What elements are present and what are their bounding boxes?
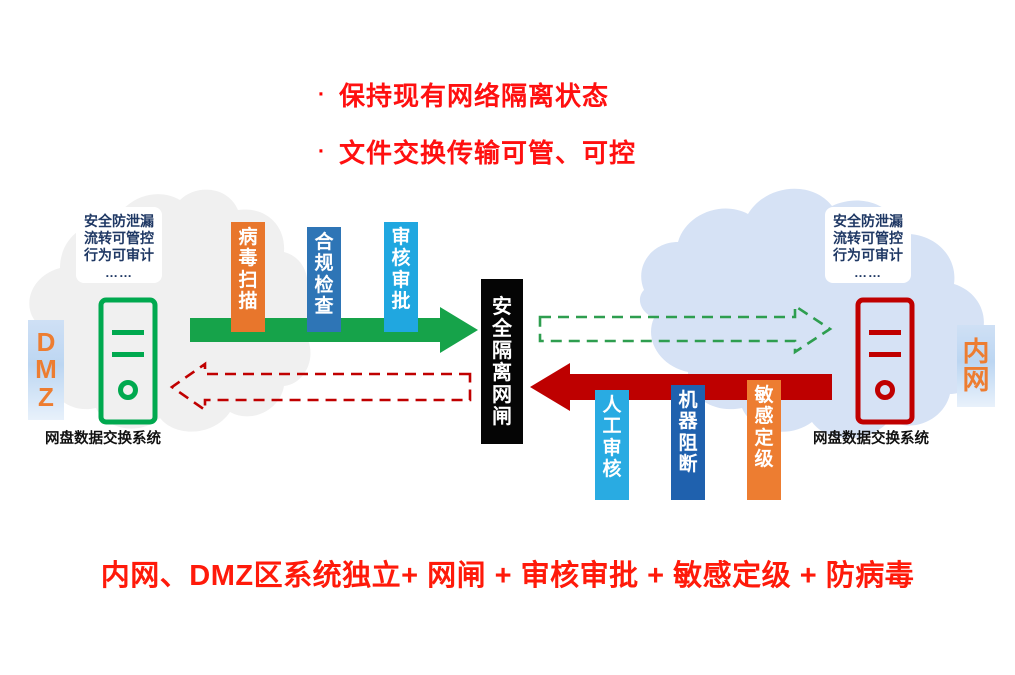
arrow-gateway-to-dmz [172, 364, 470, 410]
gateway-char: 离 [492, 362, 512, 384]
gateway-char: 隔 [492, 340, 512, 362]
process-box-machine-block[interactable]: 机 器 阻 断 [671, 385, 705, 500]
process-char: 审 [391, 270, 410, 291]
process-char: 扫 [238, 270, 257, 291]
process-char: 审 [602, 438, 621, 459]
arrow-gateway-to-intranet [540, 306, 830, 352]
security-gateway-box[interactable]: 安 全 隔 离 网 闸 [481, 279, 523, 444]
process-char: 描 [238, 291, 257, 312]
bottom-summary-text: 内网、DMZ区系统独立+ 网闸 + 审核审批 + 敏感定级 + 防病毒 [0, 552, 1015, 594]
process-char: 毒 [238, 248, 257, 269]
process-char: 规 [314, 253, 333, 274]
process-char: 合 [314, 232, 333, 253]
process-char: 断 [678, 454, 697, 475]
process-box-virus-scan[interactable]: 病 毒 扫 描 [231, 222, 265, 332]
process-char: 查 [314, 296, 333, 317]
process-box-sensitivity-grading[interactable]: 敏 感 定 级 [747, 380, 781, 500]
process-char: 人 [602, 395, 621, 416]
gateway-char: 全 [492, 318, 512, 340]
process-char: 定 [754, 428, 773, 449]
process-char: 核 [602, 459, 621, 480]
process-char: 审 [391, 227, 410, 248]
process-char: 器 [678, 411, 697, 432]
process-char: 阻 [678, 433, 697, 454]
process-box-compliance-check[interactable]: 合 规 检 查 [307, 227, 341, 332]
process-char: 感 [754, 406, 773, 427]
process-box-manual-review[interactable]: 人 工 审 核 [595, 390, 629, 500]
process-char: 机 [678, 390, 697, 411]
process-char: 敏 [754, 385, 773, 406]
process-char: 病 [238, 227, 257, 248]
diagram-canvas: · 保持现有网络隔离状态 · 文件交换传输可管、可控 D M Z 内 网 安全防… [0, 0, 1015, 675]
gateway-char: 安 [492, 296, 512, 318]
process-char: 工 [602, 416, 621, 437]
process-char: 核 [391, 248, 410, 269]
gateway-char: 闸 [492, 406, 512, 428]
process-char: 检 [314, 275, 333, 296]
process-char: 级 [754, 449, 773, 470]
process-char: 批 [391, 291, 410, 312]
process-box-review-approval[interactable]: 审 核 审 批 [384, 222, 418, 332]
gateway-char: 网 [492, 384, 512, 406]
